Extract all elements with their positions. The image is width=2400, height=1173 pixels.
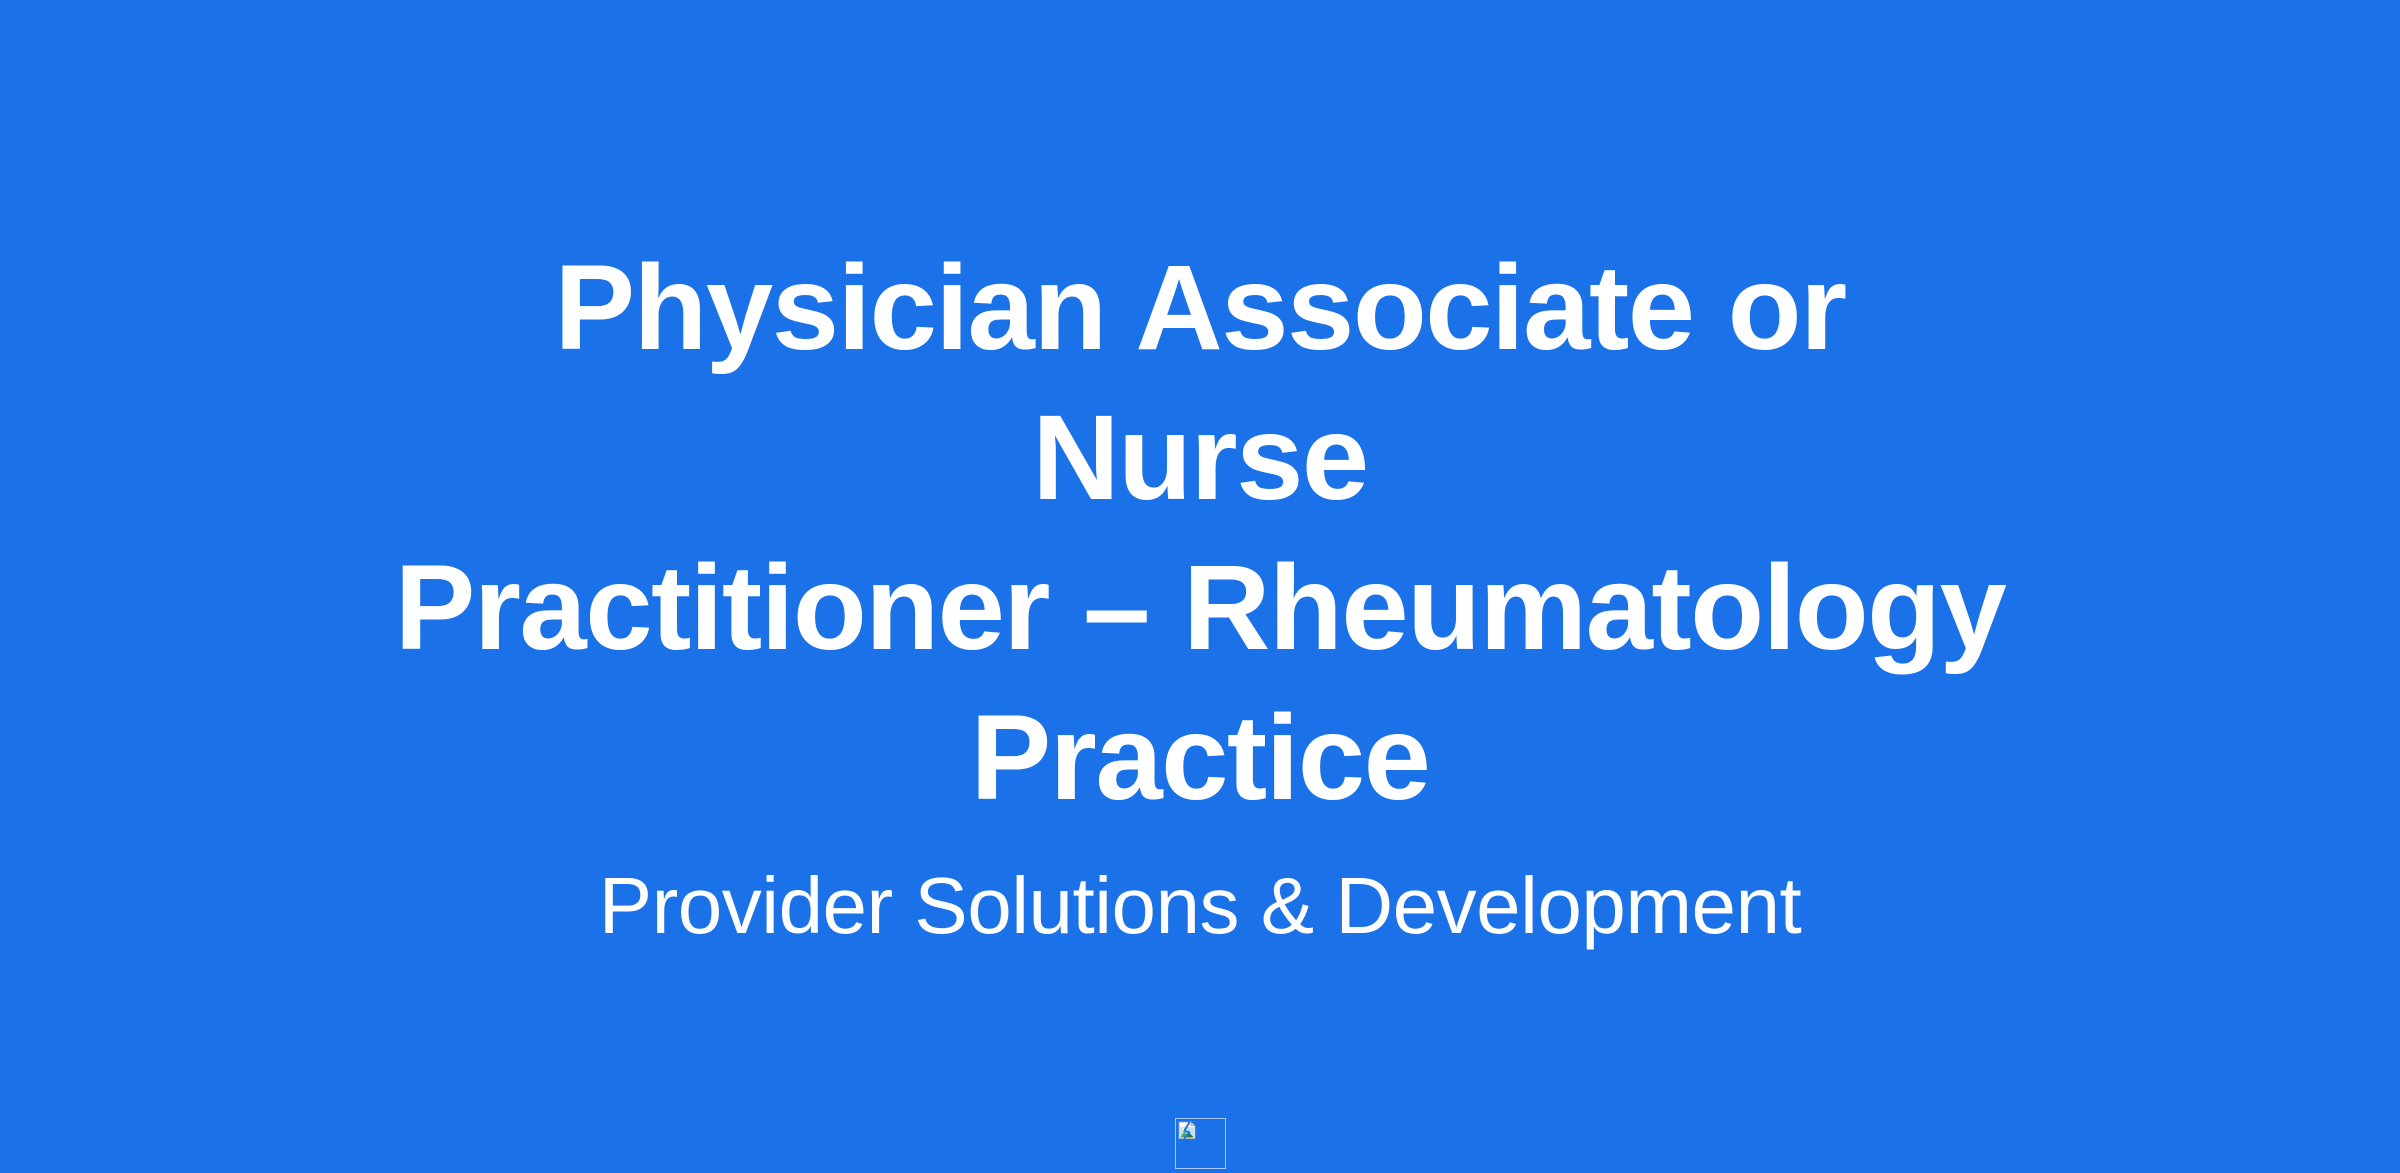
page-title-line-2: Practitioner – Rheumatology: [395, 539, 2006, 675]
hero-section: Physician Associate or Nurse Practitione…: [0, 0, 2400, 1173]
logo-container: [0, 1118, 2400, 1169]
page-title-line-1: Physician Associate or Nurse: [554, 239, 1845, 525]
page-subtitle: Provider Solutions & Development: [200, 860, 2200, 952]
broken-image-placeholder[interactable]: [1175, 1118, 1226, 1169]
broken-image-icon: [1178, 1121, 1198, 1140]
page-title: Physician Associate or Nurse Practitione…: [390, 232, 2010, 832]
page-root: Physician Associate or Nurse Practitione…: [0, 0, 2400, 1173]
page-title-line-3: Practice: [971, 689, 1430, 825]
